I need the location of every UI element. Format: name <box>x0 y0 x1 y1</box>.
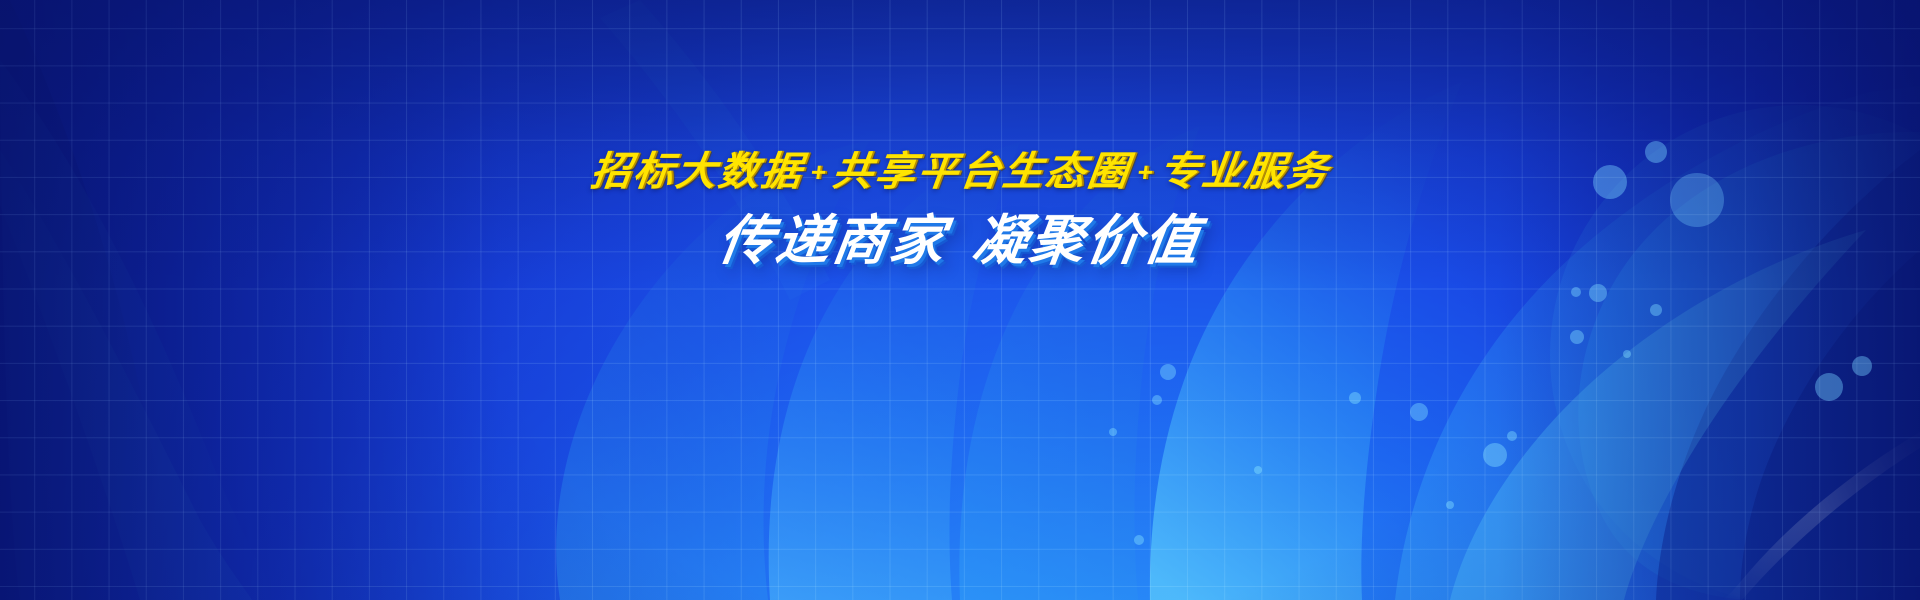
hero-headline: 招标大数据+共享平台生态圈+专业服务 <box>588 152 1331 192</box>
bokeh-layer <box>0 0 1920 600</box>
headline-segment-3: 专业服务 <box>1156 150 1331 194</box>
hero-subline: 传递商家凝聚价值 <box>715 214 1205 268</box>
subline-part-2: 凝聚价值 <box>969 211 1205 271</box>
subline-part-1: 传递商家 <box>715 211 951 271</box>
headline-segment-1: 招标大数据 <box>588 150 806 194</box>
headline-plus-1: + <box>808 157 827 187</box>
headline-segment-2: 共享平台生态圈 <box>830 150 1133 194</box>
hero-copy: 招标大数据+共享平台生态圈+专业服务 传递商家凝聚价值 <box>0 152 1920 268</box>
headline-plus-2: + <box>1135 157 1154 187</box>
hero-banner: 招标大数据+共享平台生态圈+专业服务 传递商家凝聚价值 <box>0 0 1920 600</box>
